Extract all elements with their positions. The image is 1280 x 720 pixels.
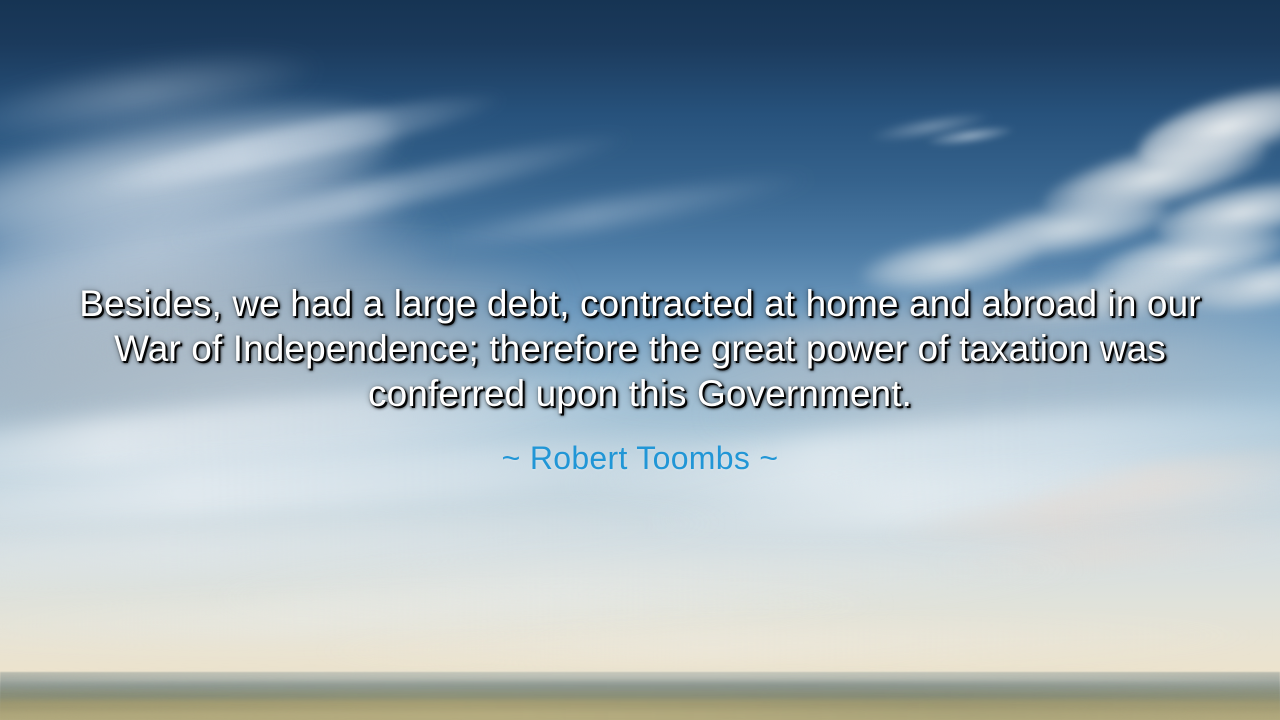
quote-block: Besides, we had a large debt, contracted…: [0, 281, 1280, 416]
land-band-tan-1: [0, 700, 1280, 710]
attribution-block: ~ Robert Toombs ~: [0, 438, 1280, 478]
attribution-text: ~ Robert Toombs ~: [502, 440, 779, 476]
land-band-tan-2: [0, 710, 1280, 720]
quote-image: Besides, we had a large debt, contracted…: [0, 0, 1280, 720]
quote-text: Besides, we had a large debt, contracted…: [58, 281, 1222, 416]
land-haze-overlay: [0, 672, 1280, 694]
